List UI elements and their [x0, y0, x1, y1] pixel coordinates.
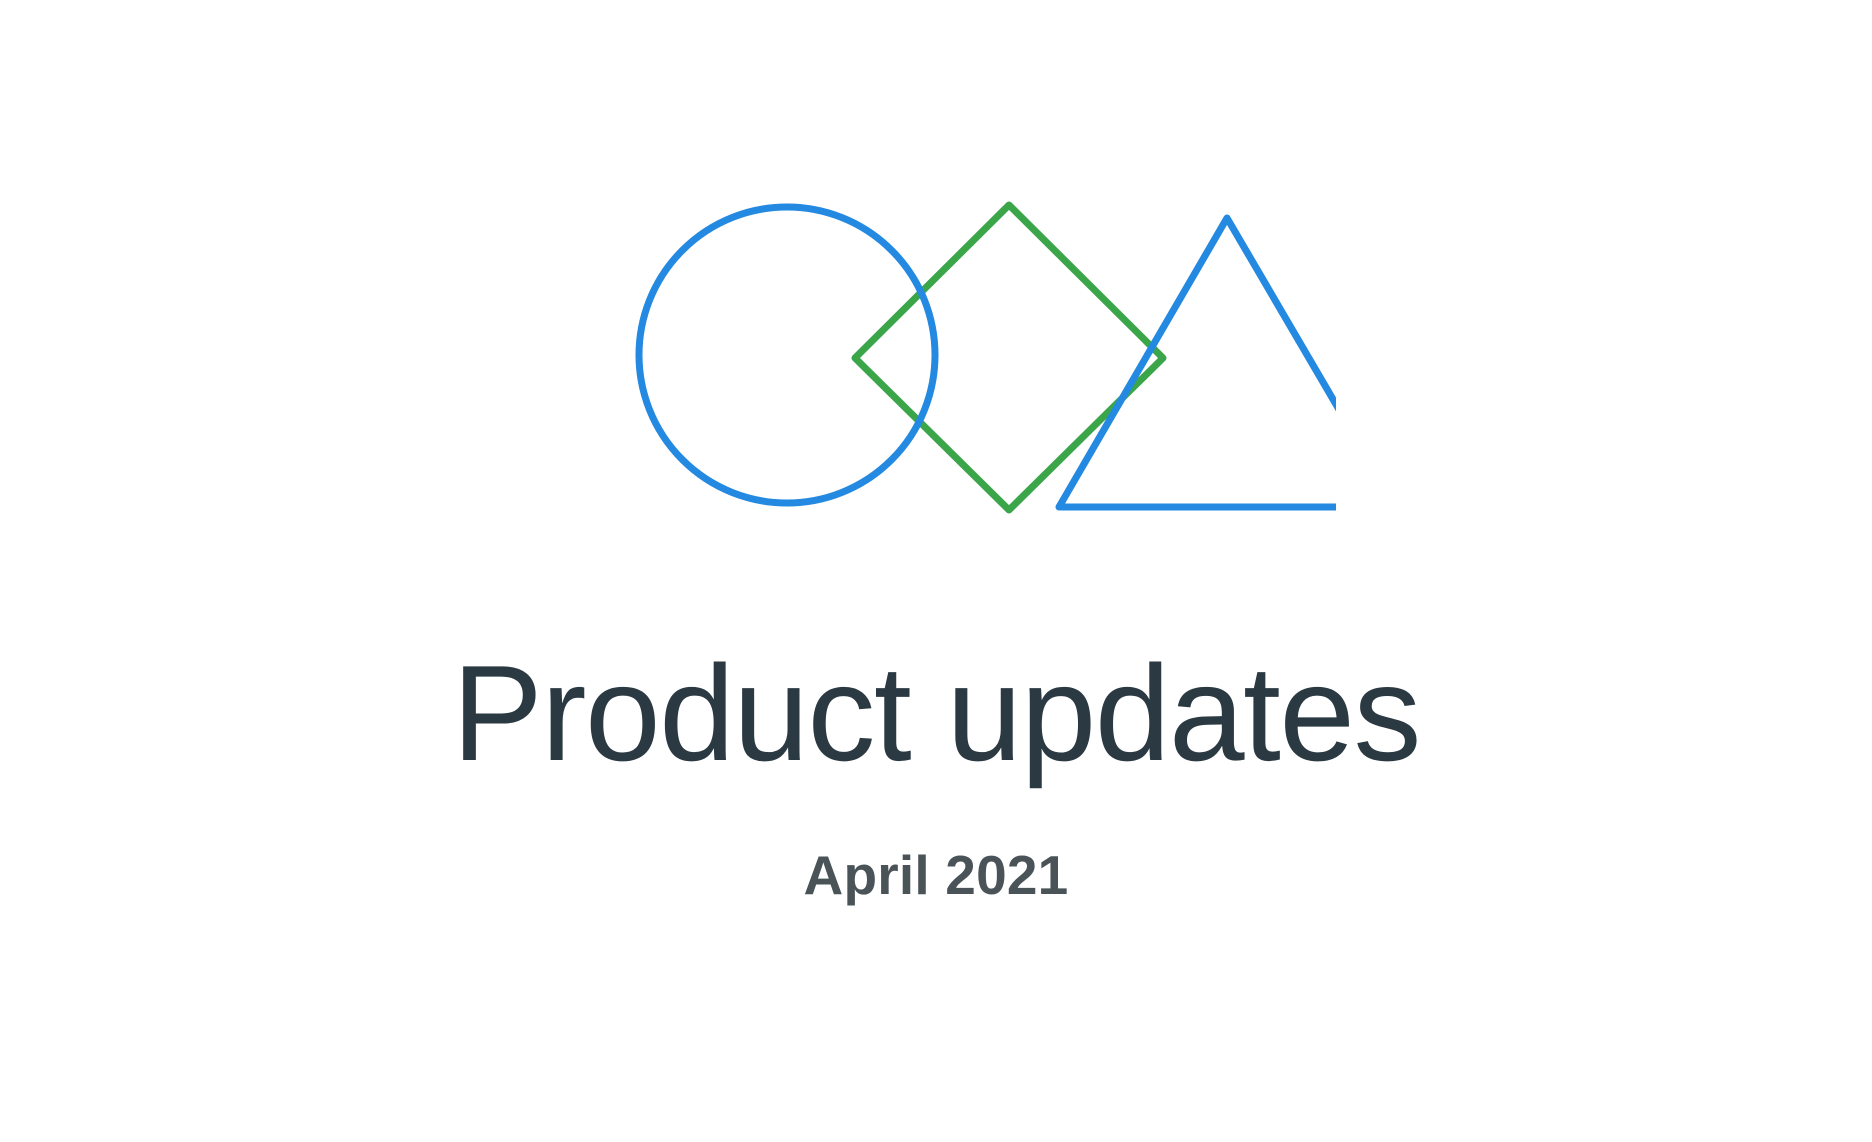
geometric-shapes-logo	[0, 150, 1872, 550]
circle-shape	[639, 207, 935, 503]
product-updates-slide: Product updates April 2021	[0, 0, 1872, 1142]
triangle-shape	[1059, 218, 1336, 507]
page-title: Product updates	[452, 640, 1420, 787]
logo-svg	[536, 150, 1336, 550]
page-subtitle: April 2021	[804, 787, 1069, 907]
title-block: Product updates April 2021	[0, 640, 1872, 907]
diamond-shape	[855, 205, 1163, 510]
